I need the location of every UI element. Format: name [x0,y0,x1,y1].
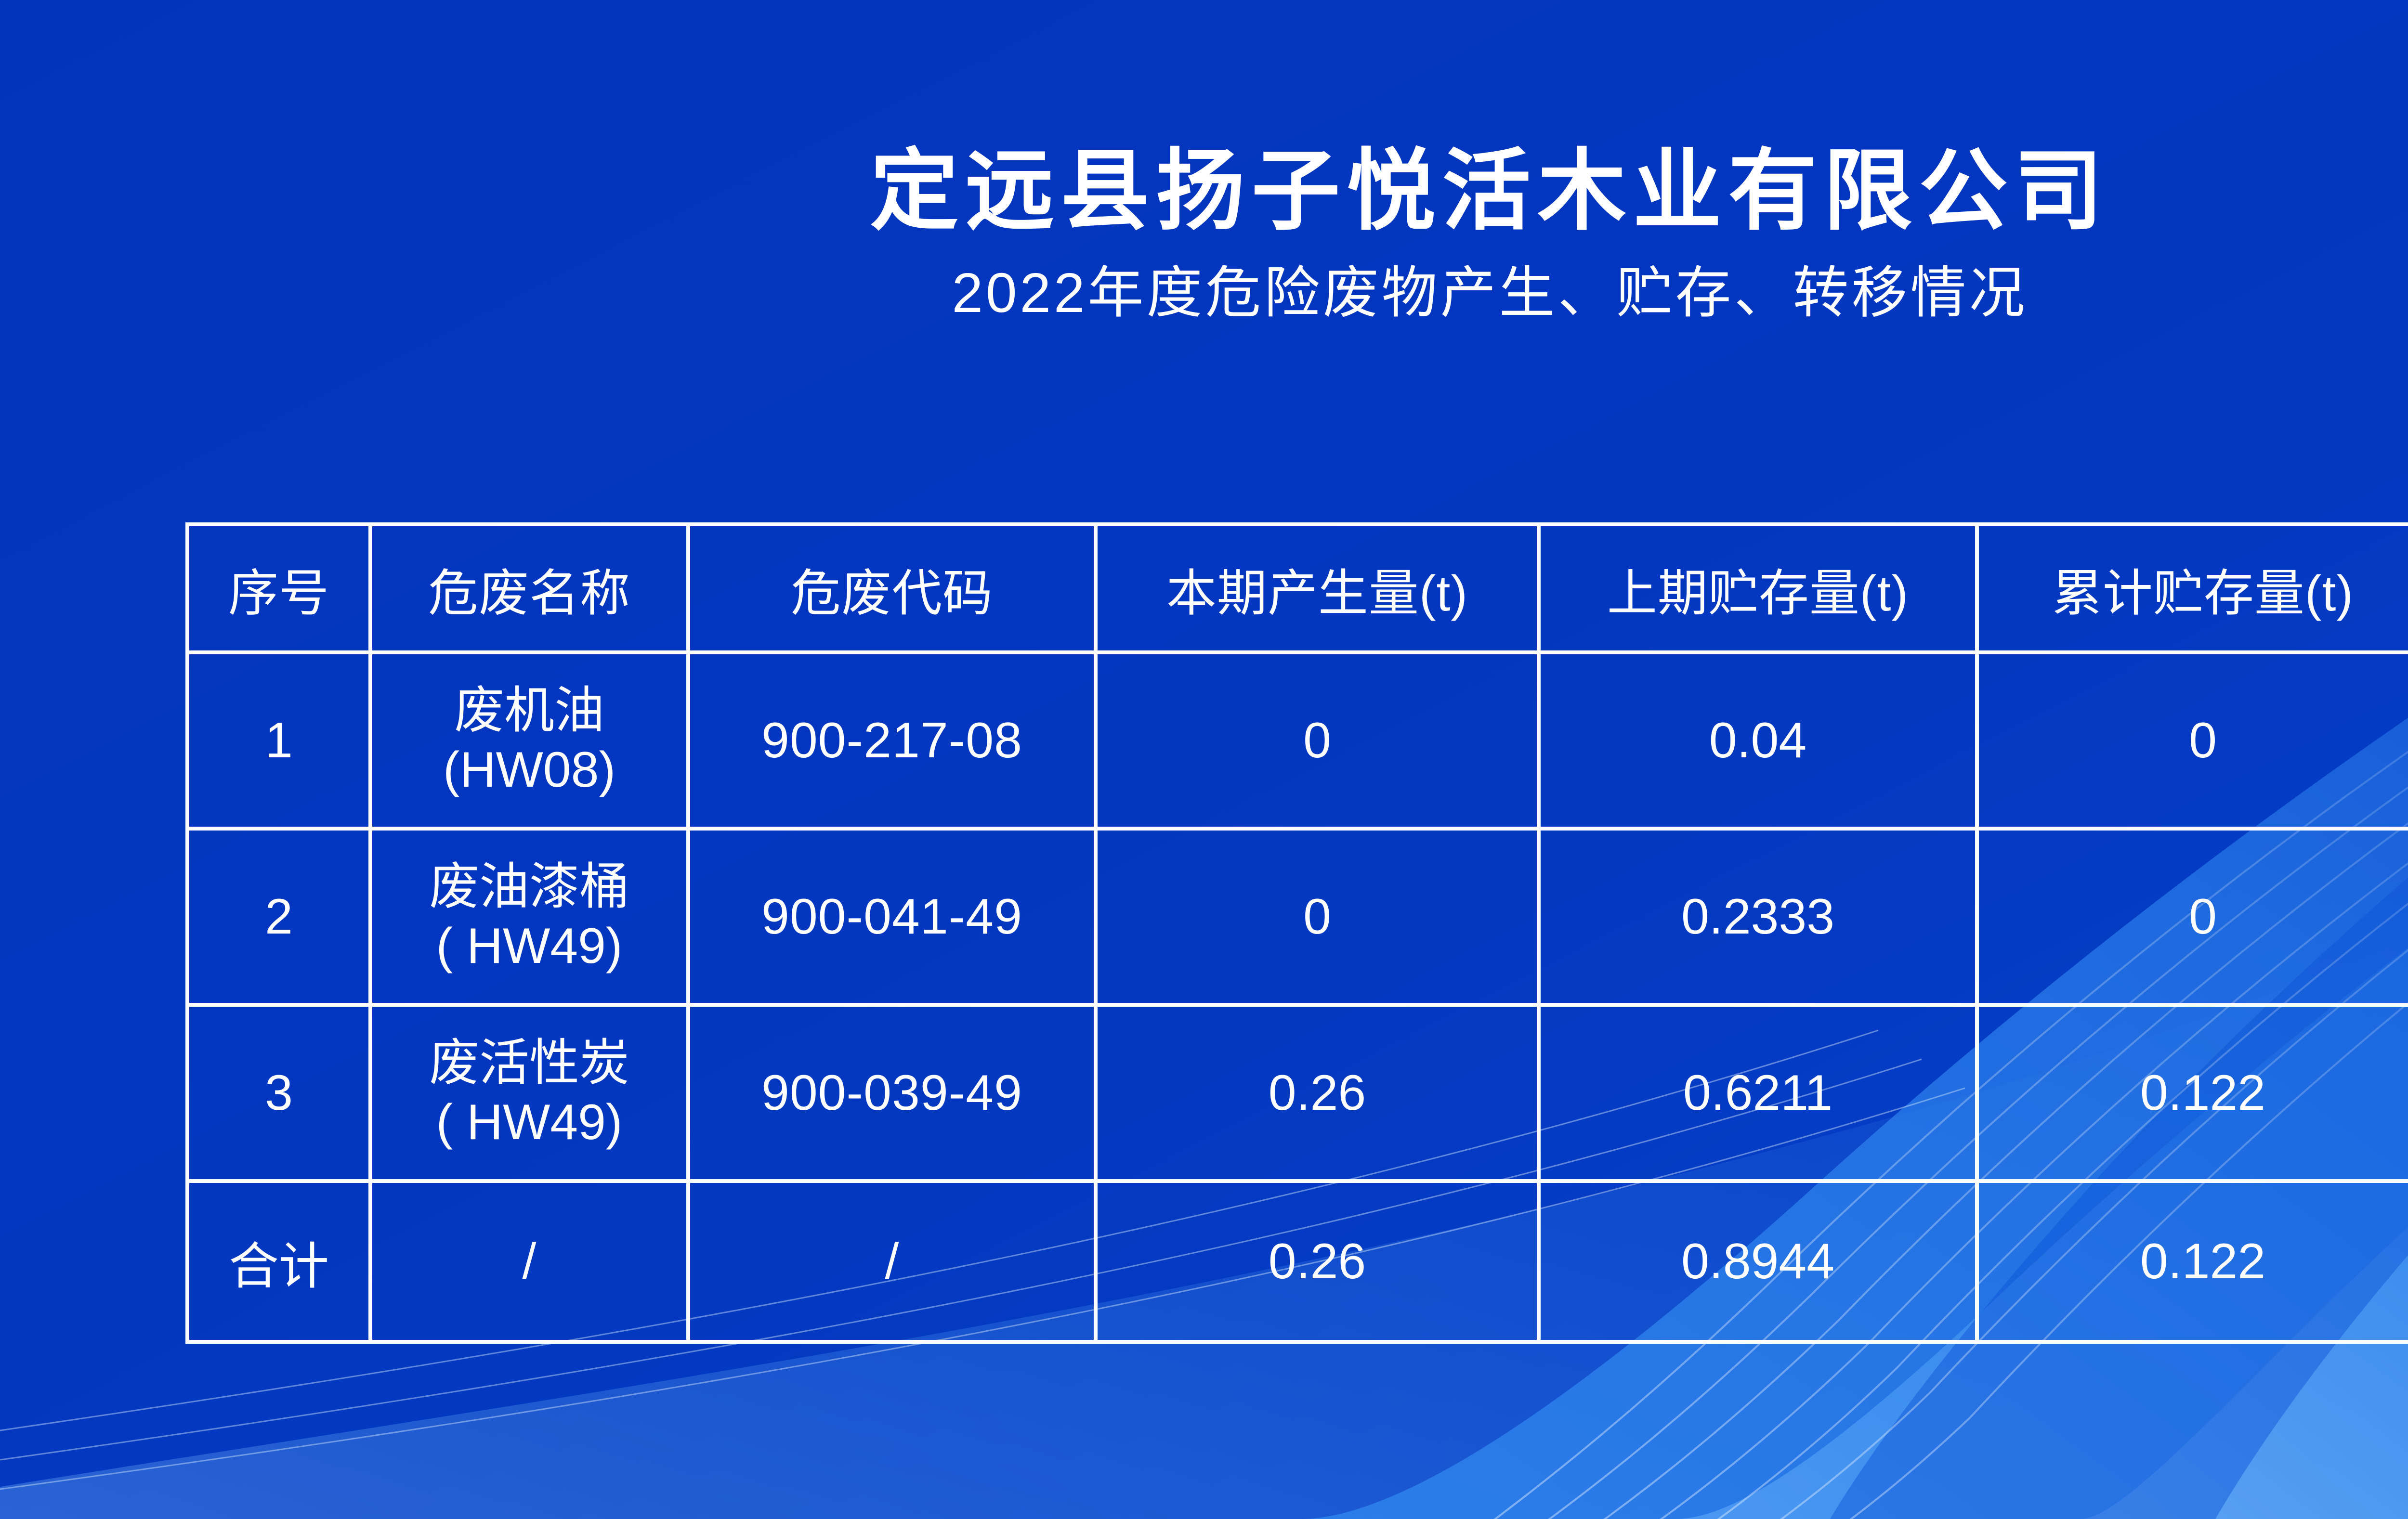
hazardous-waste-table-wrapper: 序号 危废名称 危废代码 本期产生量(t) 上期贮存量(t) 累计贮存量(t) … [185,522,2408,1344]
column-header-generated: 本期产生量(t) [1096,524,1539,652]
cell-cum-stored: 0.122 [1977,1005,2408,1181]
column-header-waste-code: 危废代码 [688,524,1096,652]
cell-index: 1 [187,652,370,829]
page-subtitle: 2022年度危险废物产生、贮存、转移情况 [0,251,2408,335]
cell-index: 2 [187,829,370,1005]
cell-waste-name: 废机油 (HW08) [370,652,688,829]
hazardous-waste-table: 序号 危废名称 危废代码 本期产生量(t) 上期贮存量(t) 累计贮存量(t) … [185,522,2408,1344]
cell-cum-stored: 0 [1977,652,2408,829]
cell-index: 3 [187,1005,370,1181]
table-body: 1 废机油 (HW08) 900-217-08 0 0.04 0 0.04 2 … [187,652,2408,1342]
cell-total-label: 合计 [187,1181,370,1342]
cell-waste-code: 900-041-49 [688,829,1096,1005]
cell-generated: 0.26 [1096,1005,1539,1181]
cell-total-cum-stored: 0.122 [1977,1181,2408,1342]
page-title: 定远县扬子悦活木业有限公司 [0,144,2408,237]
column-header-waste-name: 危废名称 [370,524,688,652]
cell-waste-code: 900-217-08 [688,652,1096,829]
column-header-cum-stored: 累计贮存量(t) [1977,524,2408,652]
header-block: 定远县扬子悦活木业有限公司 2022年度危险废物产生、贮存、转移情况 [0,144,2408,335]
cell-waste-code: 900-039-49 [688,1005,1096,1181]
cell-cum-stored: 0 [1977,829,2408,1005]
cell-total-waste-name: / [370,1181,688,1342]
cell-total-waste-code: / [688,1181,1096,1342]
table-header: 序号 危废名称 危废代码 本期产生量(t) 上期贮存量(t) 累计贮存量(t) … [187,524,2408,652]
cell-waste-name: 废油漆桶 ( HW49) [370,829,688,1005]
cell-generated: 0 [1096,652,1539,829]
table-row: 1 废机油 (HW08) 900-217-08 0 0.04 0 0.04 [187,652,2408,829]
table-row: 2 废油漆桶 ( HW49) 900-041-49 0 0.2333 0 0.2… [187,829,2408,1005]
table-header-row: 序号 危废名称 危废代码 本期产生量(t) 上期贮存量(t) 累计贮存量(t) … [187,524,2408,652]
column-header-index: 序号 [187,524,370,652]
table-row: 3 废活性炭 ( HW49) 900-039-49 0.26 0.6211 0.… [187,1005,2408,1181]
column-header-prev-stored: 上期贮存量(t) [1539,524,1977,652]
cell-total-generated: 0.26 [1096,1181,1539,1342]
cell-prev-stored: 0.2333 [1539,829,1977,1005]
cell-generated: 0 [1096,829,1539,1005]
cell-prev-stored: 0.04 [1539,652,1977,829]
cell-prev-stored: 0.6211 [1539,1005,1977,1181]
table-total-row: 合计 / / 0.26 0.8944 0.122 1.0324 [187,1181,2408,1342]
cell-total-prev-stored: 0.8944 [1539,1181,1977,1342]
cell-waste-name: 废活性炭 ( HW49) [370,1005,688,1181]
